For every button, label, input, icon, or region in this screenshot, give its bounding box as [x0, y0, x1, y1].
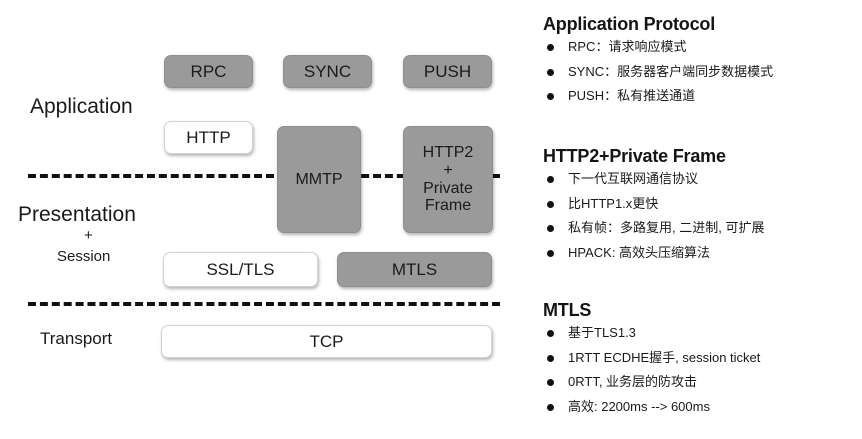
divider-session-transport — [28, 302, 500, 306]
list-item-text: 比HTTP1.x更快 — [568, 196, 658, 211]
bullet-icon — [547, 355, 554, 362]
node-sync[interactable]: SYNC — [283, 55, 372, 88]
bullet-icon — [547, 250, 554, 257]
section-title: Application Protocol — [543, 14, 862, 35]
list-item: 基于TLS1.3 — [540, 324, 862, 342]
list-item-text: HPACK: 高效头压缩算法 — [568, 245, 710, 260]
layer-label-plus: + — [84, 228, 93, 245]
bullet-icon — [547, 176, 554, 183]
protocol-details-panel: Application Protocol RPC：请求响应模式 SYNC：服务器… — [540, 0, 862, 439]
list-item: RPC：请求响应模式 — [540, 38, 862, 56]
list-item-text: 基于TLS1.3 — [568, 325, 636, 340]
list-item: 1RTT ECDHE握手, session ticket — [540, 349, 862, 367]
node-push[interactable]: PUSH — [403, 55, 492, 88]
section-application-protocol: Application Protocol RPC：请求响应模式 SYNC：服务器… — [540, 14, 862, 112]
bullet-icon — [547, 225, 554, 232]
bullet-icon — [547, 44, 554, 51]
list-item: 下一代互联网通信协议 — [540, 170, 862, 188]
list-item-text: PUSH：私有推送通道 — [568, 88, 695, 103]
bullet-list: 基于TLS1.3 1RTT ECDHE握手, session ticket 0R… — [540, 324, 862, 415]
section-title: HTTP2+Private Frame — [543, 146, 862, 167]
bullet-icon — [547, 404, 554, 411]
section-http2-private-frame: HTTP2+Private Frame 下一代互联网通信协议 比HTTP1.x更… — [540, 146, 862, 268]
list-item-text: 高效: 2200ms --> 600ms — [568, 399, 710, 414]
list-item: 高效: 2200ms --> 600ms — [540, 398, 862, 416]
layer-label-session: Session — [57, 249, 110, 266]
bullet-list: RPC：请求响应模式 SYNC：服务器客户端同步数据模式 PUSH：私有推送通道 — [540, 38, 862, 105]
layer-label-presentation: Presentation — [18, 203, 136, 226]
node-http[interactable]: HTTP — [164, 121, 253, 154]
list-item-text: 下一代互联网通信协议 — [568, 171, 698, 186]
section-title: MTLS — [543, 300, 862, 321]
list-item-text: 1RTT ECDHE握手, session ticket — [568, 350, 760, 365]
list-item-text: SYNC：服务器客户端同步数据模式 — [568, 64, 773, 79]
bullet-list: 下一代互联网通信协议 比HTTP1.x更快 私有帧：多路复用, 二进制, 可扩展… — [540, 170, 862, 261]
list-item: HPACK: 高效头压缩算法 — [540, 244, 862, 262]
layer-label-application: Application — [30, 95, 133, 118]
node-tcp[interactable]: TCP — [161, 325, 492, 358]
list-item-text: 私有帧：多路复用, 二进制, 可扩展 — [568, 220, 764, 235]
bullet-icon — [547, 69, 554, 76]
node-mmtp[interactable]: MMTP — [277, 126, 361, 233]
list-item-text: RPC：请求响应模式 — [568, 39, 686, 54]
layer-label-transport: Transport — [40, 330, 112, 349]
node-http2-private-frame[interactable]: HTTP2 + Private Frame — [403, 126, 493, 233]
bullet-icon — [547, 201, 554, 208]
node-ssl-tls[interactable]: SSL/TLS — [163, 252, 318, 287]
node-mtls[interactable]: MTLS — [337, 252, 492, 287]
list-item: 私有帧：多路复用, 二进制, 可扩展 — [540, 219, 862, 237]
protocol-stack-diagram: Application Presentation + Session Trans… — [0, 0, 535, 439]
list-item: PUSH：私有推送通道 — [540, 87, 862, 105]
node-rpc[interactable]: RPC — [164, 55, 253, 88]
list-item: SYNC：服务器客户端同步数据模式 — [540, 63, 862, 81]
list-item: 比HTTP1.x更快 — [540, 195, 862, 213]
bullet-icon — [547, 379, 554, 386]
bullet-icon — [547, 330, 554, 337]
section-mtls: MTLS 基于TLS1.3 1RTT ECDHE握手, session tick… — [540, 300, 862, 422]
list-item-text: 0RTT, 业务层的防攻击 — [568, 374, 697, 389]
bullet-icon — [547, 93, 554, 100]
list-item: 0RTT, 业务层的防攻击 — [540, 373, 862, 391]
